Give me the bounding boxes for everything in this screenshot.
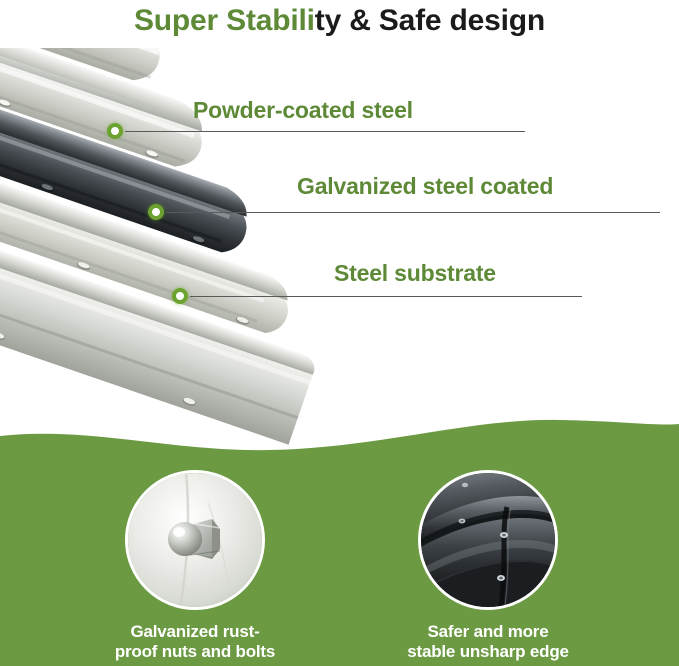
callout-leader-line-2	[166, 212, 660, 213]
feature-caption-2-line2: stable unsharp edge	[378, 642, 598, 662]
feature-galvanized-nuts-bolts: Galvanized rust- proof nuts and bolts	[85, 470, 305, 662]
page-title-black-part: ty & Safe design	[315, 4, 545, 37]
callout-marker-steel-substrate[interactable]	[172, 288, 188, 304]
callout-label-steel-substrate: Steel substrate	[334, 259, 496, 287]
callout-leader-line-1	[125, 131, 525, 132]
infographic-page: Super Stability & Safe design	[0, 0, 679, 666]
feature-caption-1: Galvanized rust- proof nuts and bolts	[85, 622, 305, 662]
callout-label-powder-coated-steel: Powder-coated steel	[193, 96, 413, 124]
callout-marker-galvanized-steel-coated[interactable]	[148, 204, 164, 220]
feature-caption-1-line1: Galvanized rust-	[85, 622, 305, 642]
galvanized-nut-bolt-photo	[125, 470, 265, 610]
callout-leader-line-3	[190, 296, 582, 297]
feature-caption-2: Safer and more stable unsharp edge	[378, 622, 598, 662]
page-title: Super Stability & Safe design	[0, 0, 679, 42]
feature-unsharp-edge: Safer and more stable unsharp edge	[378, 470, 598, 662]
nut-bolt-image	[128, 473, 262, 607]
feature-caption-1-line2: proof nuts and bolts	[85, 642, 305, 662]
feature-caption-2-line1: Safer and more	[378, 622, 598, 642]
callout-marker-powder-coated-steel[interactable]	[107, 123, 123, 139]
page-title-green-part: Super Stabili	[134, 4, 315, 37]
unsharp-edge-photo	[418, 470, 558, 610]
unsharp-edge-image	[421, 473, 555, 607]
callout-label-galvanized-steel-coated: Galvanized steel coated	[297, 172, 553, 200]
